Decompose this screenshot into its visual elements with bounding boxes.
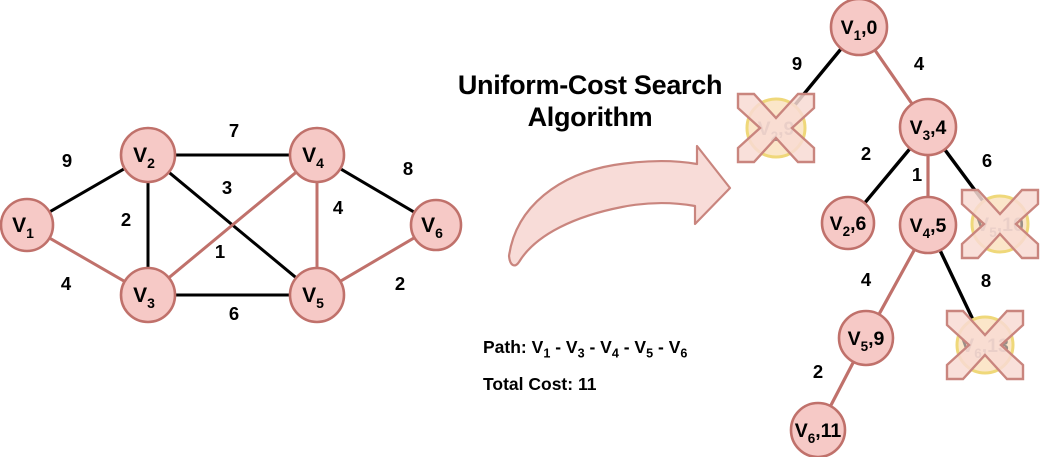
- edge-v5-v6: 2: [339, 237, 415, 294]
- edge-weight-label: 2: [395, 273, 405, 294]
- curved-transition-arrow: [509, 146, 730, 265]
- edge-v2-v3: 2: [121, 181, 148, 269]
- edge-t7-t9: 2: [813, 361, 854, 407]
- edge-weight-label: 7: [229, 120, 239, 141]
- graph-node-v6[interactable]: V6: [411, 200, 461, 250]
- edge-t5-t7: 4: [861, 249, 915, 316]
- edge-weight-label: 4: [61, 273, 72, 294]
- edge-weight-label: 8: [981, 270, 991, 291]
- edge-weight-label: 6: [982, 150, 992, 171]
- edge-v2-v4: 7: [174, 120, 291, 155]
- page-title-line1: Uniform-Cost Search: [430, 70, 750, 102]
- edge-t1-t3: 4: [874, 49, 925, 105]
- graph-node-v3[interactable]: V3: [121, 268, 175, 322]
- tree-node-t8-expanded-discarded[interactable]: V6,13: [947, 311, 1023, 379]
- tree-node-t7[interactable]: V5,9: [839, 311, 893, 365]
- edge-v3-v5: 6: [174, 295, 291, 324]
- edge-weight-label: 9: [792, 53, 802, 74]
- path-node-v4: V4: [600, 337, 619, 357]
- edge-weight-label: 4: [861, 269, 872, 290]
- path-node-v1: V1: [532, 337, 551, 357]
- total-cost-line: Total Cost: 11: [483, 374, 687, 395]
- edge-weight-label: 3: [222, 177, 232, 198]
- path-value: V1 - V3 - V4 - V5 - V6: [532, 337, 688, 357]
- edge-weight-label: 8: [403, 158, 413, 179]
- path-separator: -: [585, 337, 601, 357]
- tree-node-t5[interactable]: V4,5: [900, 197, 956, 253]
- total-cost-label: Total Cost:: [483, 374, 573, 394]
- edge-weight-label: 2: [861, 143, 871, 164]
- edge-weight-label: 1: [912, 164, 922, 185]
- path-separator: -: [550, 337, 566, 357]
- path-line: Path: V1 - V3 - V4 - V5 - V6: [483, 337, 687, 361]
- edge-weight-label: 4: [914, 53, 925, 74]
- path-node-v5: V5: [634, 337, 653, 357]
- result-summary: Path: V1 - V3 - V4 - V5 - V6 Total Cost:…: [483, 337, 687, 408]
- search-tree: 94216482V1,0V2,9V3,4V2,6V4,5V5,10V5,9V6,…: [738, 0, 1038, 457]
- weighted-graph: 9472316482V1V2V3V4V5V6: [1, 120, 461, 324]
- edge-t3-t5: 1: [912, 154, 928, 198]
- page-title-line2: Algorithm: [430, 102, 750, 134]
- edge-v4-v6: 8: [339, 158, 415, 213]
- graph-node-v5[interactable]: V5: [290, 268, 344, 322]
- edge-weight-label: 1: [215, 241, 225, 262]
- graph-node-v2[interactable]: V2: [121, 128, 175, 182]
- tree-node-t1[interactable]: V1,0: [831, 0, 887, 55]
- edge-t3-t4: 2: [861, 143, 911, 204]
- edge-weight-label: 9: [62, 150, 72, 171]
- graph-node-v1[interactable]: V1: [1, 199, 53, 251]
- tree-node-t3[interactable]: V3,4: [900, 99, 956, 155]
- graph-node-v4[interactable]: V4: [290, 128, 344, 182]
- edge-weight-label: 4: [333, 197, 344, 218]
- tree-node-t6-expanded-discarded[interactable]: V5,10: [962, 190, 1038, 258]
- tree-node-t4[interactable]: V2,6: [822, 197, 874, 249]
- path-separator: -: [653, 337, 669, 357]
- edge-weight-label: 2: [121, 209, 131, 230]
- path-node-v6: V6: [669, 337, 688, 357]
- total-cost-value: 11: [578, 374, 597, 394]
- edge-v4-v5: 4: [317, 181, 344, 269]
- page-title: Uniform-Cost Search Algorithm: [430, 70, 750, 134]
- path-separator: -: [619, 337, 635, 357]
- edge-v1-v2: 9: [49, 150, 126, 212]
- tree-node-t9[interactable]: V6,11: [791, 403, 845, 457]
- edge-v1-v3: 4: [49, 238, 126, 294]
- edge-weight-label: 6: [229, 303, 239, 324]
- path-label: Path:: [483, 337, 527, 357]
- path-node-v3: V3: [566, 337, 585, 357]
- edge-weight-label: 2: [813, 361, 823, 382]
